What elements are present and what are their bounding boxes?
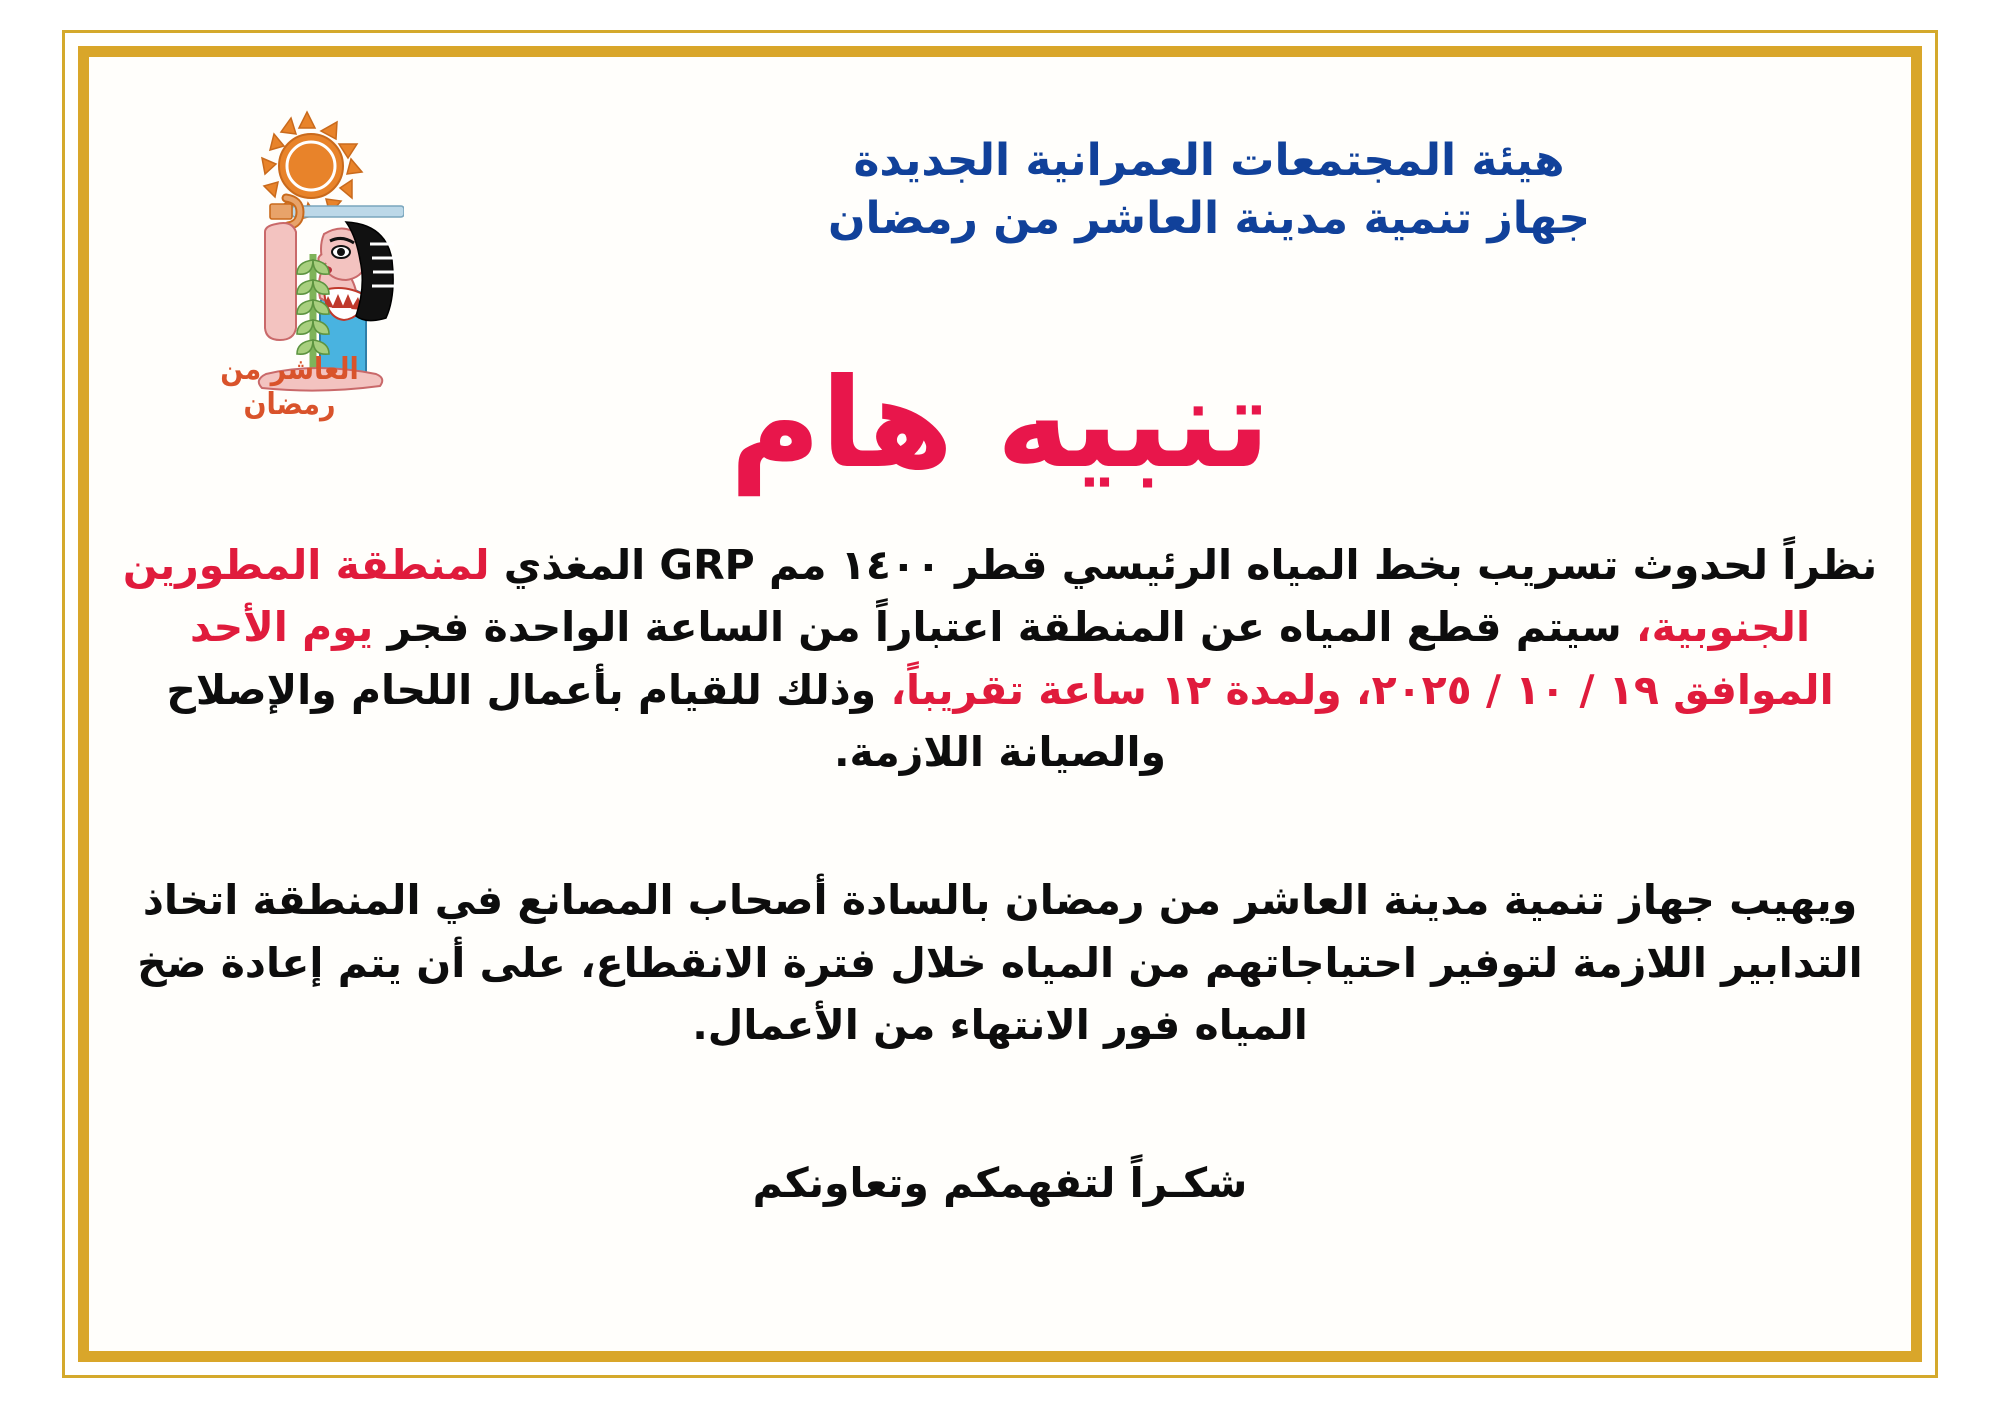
page-title: تنبيه هام bbox=[96, 362, 1904, 486]
organization-titles: هيئة المجتمعات العمرانية الجديدة جهاز تن… bbox=[634, 132, 1784, 248]
notice-segment-4: سيتم قطع المياه عن المنطقة اعتباراً من ا… bbox=[373, 603, 1636, 651]
notice-body: نظراً لحدوث تسريب بخط المياه الرئيسي قطر… bbox=[110, 534, 1890, 1215]
notice-segment-1: GRP bbox=[659, 534, 754, 596]
sun-icon bbox=[262, 112, 362, 218]
agency-name: جهاز تنمية مدينة العاشر من رمضان bbox=[634, 190, 1784, 248]
notice-segment-0: نظراً لحدوث تسريب بخط المياه الرئيسي قطر… bbox=[755, 541, 1877, 589]
notice-segment-2: المغذي bbox=[490, 541, 660, 589]
paragraph-closing-thanks: شكـراً لتفهمكم وتعاونكم bbox=[110, 1152, 1890, 1214]
notice-poster: العاشر من رمضان هيئة المجتمعات العمرانية… bbox=[0, 0, 2000, 1414]
poster-content: العاشر من رمضان هيئة المجتمعات العمرانية… bbox=[96, 62, 1904, 1344]
tenth-of-ramadan-city-emblem: العاشر من رمضان bbox=[174, 94, 404, 394]
poster-header: العاشر من رمضان هيئة المجتمعات العمرانية… bbox=[96, 86, 1904, 386]
paragraph-factory-advisory: ويهيب جهاز تنمية مدينة العاشر من رمضان ب… bbox=[110, 869, 1890, 1056]
authority-name: هيئة المجتمعات العمرانية الجديدة bbox=[634, 132, 1784, 190]
paragraph-leak-notice: نظراً لحدوث تسريب بخط المياه الرئيسي قطر… bbox=[110, 534, 1890, 783]
